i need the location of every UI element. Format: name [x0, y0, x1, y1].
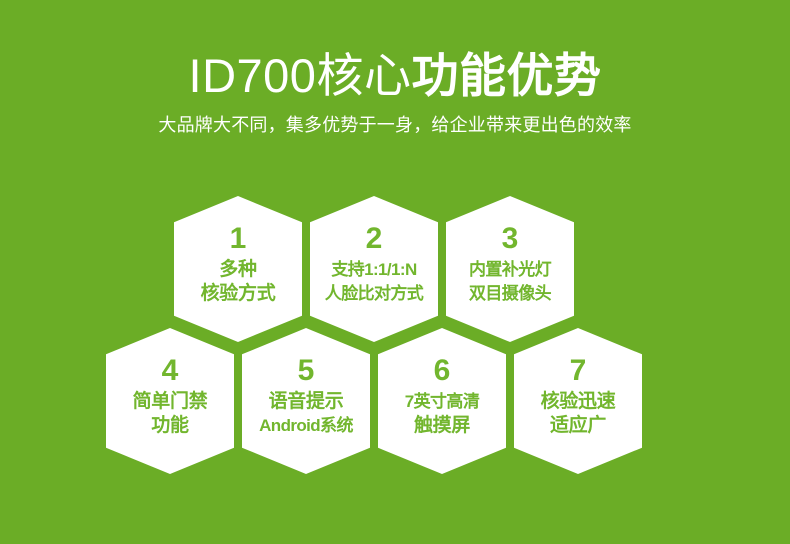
feature-number: 2 [366, 224, 383, 254]
feature-label: 多种 核验方式 [175, 258, 301, 306]
feature-label-line1: 语音提示 [243, 390, 369, 414]
feature-label-line2: 双目摄像头 [447, 282, 573, 306]
feature-label-line2: 人脸比对方式 [311, 282, 437, 306]
feature-hexagon-6[interactable]: 6 7英寸高清 触摸屏 [378, 328, 506, 474]
feature-label: 简单门禁 功能 [107, 390, 233, 438]
feature-number: 5 [298, 356, 315, 386]
promo-banner: ID700核心功能优势 大品牌大不同，集多优势于一身，给企业带来更出色的效率 1… [0, 0, 790, 544]
feature-label-line2: 触摸屏 [379, 414, 505, 438]
feature-number: 4 [162, 356, 179, 386]
feature-label-line1: 7英寸高清 [379, 390, 505, 414]
feature-hexagon-4[interactable]: 4 简单门禁 功能 [106, 328, 234, 474]
feature-hexagon-7[interactable]: 7 核验迅速 适应广 [514, 328, 642, 474]
feature-label-line1: 多种 [175, 258, 301, 282]
feature-hexagon-5[interactable]: 5 语音提示 Android系统 [242, 328, 370, 474]
feature-label: 核验迅速 适应广 [515, 390, 641, 438]
feature-label-line1: 简单门禁 [107, 390, 233, 414]
feature-label: 语音提示 Android系统 [243, 390, 369, 438]
feature-hexagon-1[interactable]: 1 多种 核验方式 [174, 196, 302, 342]
feature-number: 7 [570, 356, 587, 386]
feature-label-line1: 核验迅速 [515, 390, 641, 414]
feature-label: 支持1:1/1:N 人脸比对方式 [311, 258, 437, 306]
feature-label: 7英寸高清 触摸屏 [379, 390, 505, 438]
feature-label-line2: Android系统 [243, 414, 369, 438]
feature-number: 3 [502, 224, 519, 254]
feature-label-line2: 适应广 [515, 414, 641, 438]
feature-hex-grid: 1 多种 核验方式 2 支持1:1/1:N 人脸比对方式 3 内置补光灯 双目摄… [0, 0, 790, 544]
feature-label-line2: 核验方式 [175, 282, 301, 306]
feature-label-line2: 功能 [107, 414, 233, 438]
feature-hexagon-3[interactable]: 3 内置补光灯 双目摄像头 [446, 196, 574, 342]
feature-number: 1 [230, 224, 247, 254]
feature-number: 6 [434, 356, 451, 386]
feature-label: 内置补光灯 双目摄像头 [447, 258, 573, 306]
feature-label-line1: 内置补光灯 [447, 258, 573, 282]
feature-label-line1: 支持1:1/1:N [311, 258, 437, 282]
feature-hexagon-2[interactable]: 2 支持1:1/1:N 人脸比对方式 [310, 196, 438, 342]
